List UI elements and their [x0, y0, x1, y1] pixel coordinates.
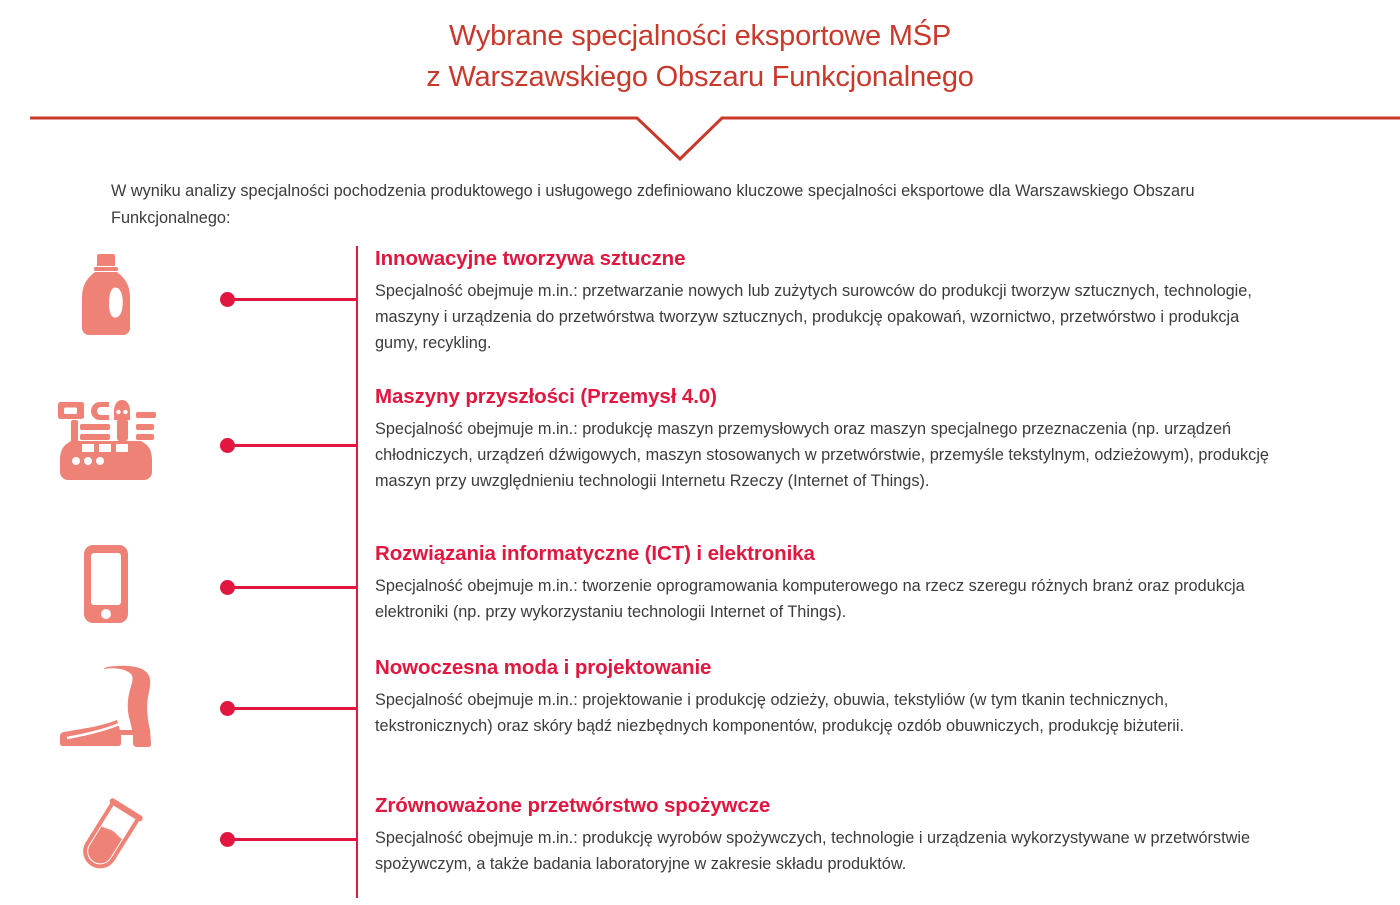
specialty-icon-cell — [0, 793, 212, 887]
connector-horizontal-line — [233, 444, 358, 447]
connector-horizontal-line — [233, 586, 358, 589]
specialty-heading: Innowacyjne tworzywa sztuczne — [375, 246, 1270, 272]
infographic-page: Wybrane specjalności eksportowe MŚP z Wa… — [0, 0, 1400, 905]
specialty-text-cell: Innowacyjne tworzywa sztuczne Specjalnoś… — [358, 246, 1400, 356]
specialty-icon-cell — [0, 246, 212, 338]
specialty-connector — [212, 246, 358, 384]
specialty-body: Specjalność obejmuje m.in.: produkcję ma… — [375, 416, 1270, 494]
connector-vertical-line — [356, 246, 358, 384]
page-title: Wybrane specjalności eksportowe MŚP z Wa… — [0, 16, 1400, 98]
connector-horizontal-line — [233, 838, 358, 841]
specialty-body: Specjalność obejmuje m.in.: produkcję wy… — [375, 825, 1270, 877]
list-item: Maszyny przyszłości (Przemysł 4.0) Specj… — [0, 384, 1400, 541]
specialty-connector — [212, 384, 358, 541]
specialty-text-cell: Nowoczesna moda i projektowanie Specjaln… — [358, 655, 1400, 739]
specialty-icon-cell — [0, 384, 212, 484]
specialty-connector — [212, 793, 358, 898]
list-item: Innowacyjne tworzywa sztuczne Specjalnoś… — [0, 246, 1400, 384]
specialty-text-cell: Maszyny przyszłości (Przemysł 4.0) Specj… — [358, 384, 1400, 494]
specialty-heading: Nowoczesna moda i projektowanie — [375, 655, 1270, 681]
connector-vertical-line — [356, 384, 358, 541]
connector-vertical-line — [356, 655, 358, 793]
specialty-icon-cell — [0, 541, 212, 627]
specialty-heading: Maszyny przyszłości (Przemysł 4.0) — [375, 384, 1270, 410]
chevron-down-notch-icon — [0, 104, 1400, 166]
connector-horizontal-line — [233, 707, 358, 710]
header-divider — [0, 104, 1400, 166]
specialties-list: Innowacyjne tworzywa sztuczne Specjalnoś… — [0, 246, 1400, 898]
specialty-heading: Rozwiązania informatyczne (ICT) i elektr… — [375, 541, 1270, 567]
high-heel-boot-icon — [58, 665, 154, 751]
connector-vertical-line — [356, 541, 358, 655]
specialty-heading: Zrównoważone przetwórstwo spożywcze — [375, 793, 1270, 819]
list-item: Nowoczesna moda i projektowanie Specjaln… — [0, 655, 1400, 793]
specialty-body: Specjalność obejmuje m.in.: projektowani… — [375, 687, 1270, 739]
smartphone-icon — [80, 541, 132, 627]
plastic-bottle-icon — [78, 252, 134, 338]
page-title-line-2: z Warszawskiego Obszaru Funkcjonalnego — [0, 57, 1400, 98]
test-tube-icon — [58, 797, 154, 887]
intro-paragraph: W wyniku analizy specjalności pochodzeni… — [111, 178, 1276, 232]
specialty-connector — [212, 541, 358, 655]
specialty-text-cell: Rozwiązania informatyczne (ICT) i elektr… — [358, 541, 1400, 625]
connector-horizontal-line — [233, 298, 358, 301]
specialty-icon-cell — [0, 655, 212, 751]
page-title-line-1: Wybrane specjalności eksportowe MŚP — [0, 16, 1400, 57]
specialty-body: Specjalność obejmuje m.in.: przetwarzani… — [375, 278, 1270, 356]
specialty-connector — [212, 655, 358, 793]
specialty-body: Specjalność obejmuje m.in.: tworzenie op… — [375, 573, 1270, 625]
list-item: Zrównoważone przetwórstwo spożywcze Spec… — [0, 793, 1400, 898]
industrial-machine-icon — [52, 398, 160, 484]
list-item: Rozwiązania informatyczne (ICT) i elektr… — [0, 541, 1400, 655]
connector-vertical-line — [356, 793, 358, 898]
specialty-text-cell: Zrównoważone przetwórstwo spożywcze Spec… — [358, 793, 1400, 877]
